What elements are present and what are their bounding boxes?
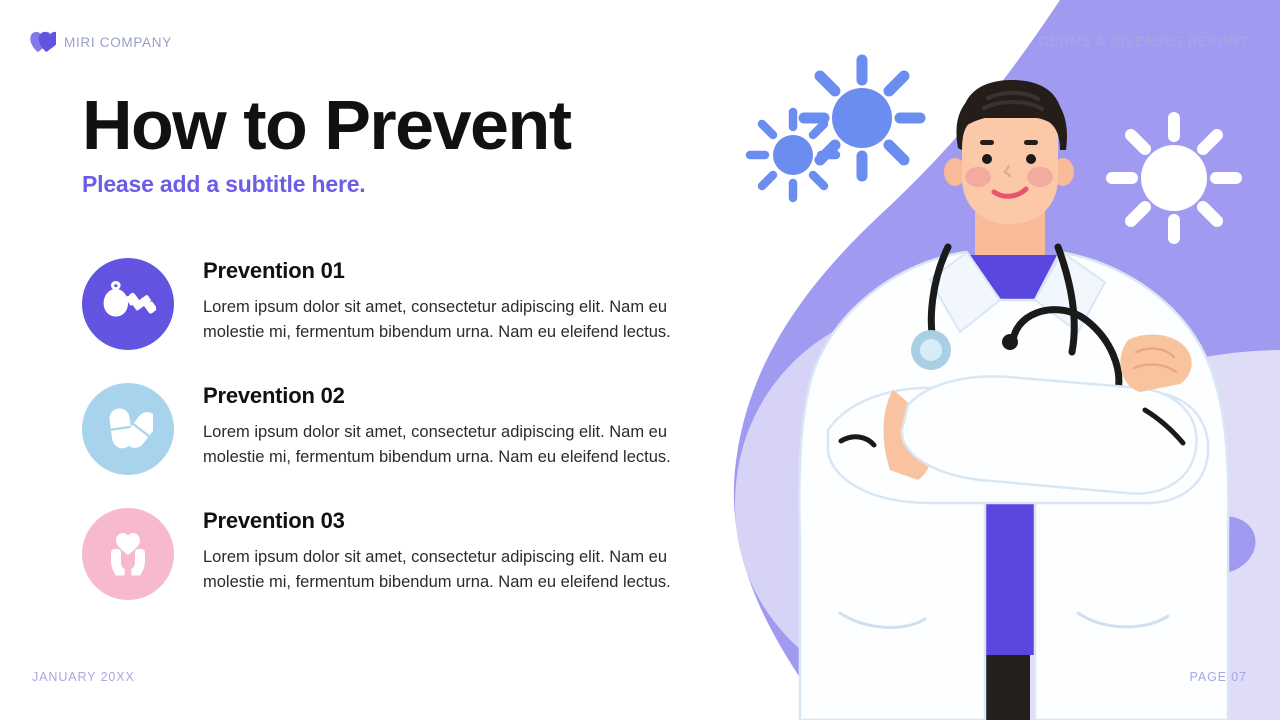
prevention-icon-circle-1 — [82, 258, 174, 350]
brand[interactable]: MIRI COMPANY — [30, 31, 172, 53]
prevention-text-2: Prevention 02 Lorem ipsum dolor sit amet… — [203, 377, 722, 470]
doctor-coat-collar-left — [930, 252, 1000, 332]
doctor-face — [962, 92, 1058, 224]
stethoscope-chest-piece — [911, 330, 951, 370]
brand-name: MIRI COMPANY — [64, 35, 172, 50]
germ-small-blue-icon — [750, 112, 836, 198]
doctor-forearm-skin — [884, 390, 932, 480]
germ-white-icon — [1112, 118, 1236, 238]
prevention-description: Lorem ipsum dolor sit amet, consectetur … — [203, 545, 719, 595]
prevention-text-1: Prevention 01 Lorem ipsum dolor sit amet… — [203, 252, 722, 345]
doctor-figure — [799, 80, 1228, 720]
doctor-hair — [956, 84, 1067, 150]
doctor-head — [944, 80, 1074, 224]
prevention-title: Prevention 02 — [203, 383, 722, 409]
prevention-list: Prevention 01 Lorem ipsum dolor sit amet… — [82, 252, 722, 627]
doctor-cheek-right — [1027, 167, 1053, 187]
doctor-sleeve-line-left — [841, 437, 874, 445]
footer-page-number: PAGE 07 — [1190, 670, 1247, 684]
background-lavender-panel — [999, 350, 1280, 720]
doctor-hand — [1120, 334, 1191, 392]
doctor-hair-stripes — [984, 93, 1042, 109]
stethoscope-chest-piece-inner — [920, 339, 942, 361]
doctor-nose — [1005, 166, 1010, 176]
doctor-arm-upper — [902, 376, 1197, 493]
doctor-coat-pocket-right — [1078, 613, 1168, 627]
hands-holding-heart-icon — [102, 530, 154, 578]
report-label: GERMS & DISEASES REPORT — [1039, 34, 1248, 49]
doctor-cheek-left — [965, 167, 991, 187]
germ-large-blue-icon — [804, 60, 920, 176]
doctor-coat-pocket-left — [840, 613, 925, 627]
background-small-blob — [1181, 508, 1263, 582]
stethoscope-tube-loop — [1013, 310, 1119, 390]
doctor-coat-collar-right — [1035, 252, 1105, 332]
two-hearts-icon — [30, 31, 56, 53]
doctor-pants — [930, 650, 1030, 720]
footer-date: JANUARY 20XX — [32, 670, 135, 684]
prevention-title: Prevention 03 — [203, 508, 722, 534]
prevention-description: Lorem ipsum dolor sit amet, consectetur … — [203, 295, 719, 345]
dumbbell-kettlebell-icon — [100, 281, 156, 327]
list-item[interactable]: Prevention 03 Lorem ipsum dolor sit amet… — [82, 502, 722, 600]
stethoscope-ear-tip-right — [1112, 385, 1128, 401]
pills-capsules-icon — [103, 406, 153, 452]
doctor-arm-lower — [828, 388, 1208, 503]
doctor-sleeve-line-right — [1145, 410, 1183, 443]
prevention-title: Prevention 01 — [203, 258, 722, 284]
doctor-scrubs — [960, 255, 1070, 655]
background-purple-blob — [734, 0, 1280, 720]
stethoscope-ear-tip-left — [1002, 334, 1018, 350]
prevention-text-3: Prevention 03 Lorem ipsum dolor sit amet… — [203, 502, 722, 595]
doctor-ear-right — [1052, 158, 1074, 186]
slide-canvas: MIRI COMPANY GERMS & DISEASES REPORT How… — [0, 0, 1280, 720]
background-lavender-halo — [735, 300, 1030, 700]
doctor-neck — [975, 210, 1045, 280]
doctor-eyebrow-left — [980, 140, 994, 145]
page-title: How to Prevent — [82, 86, 571, 164]
page-subtitle: Please add a subtitle here. — [82, 171, 366, 198]
stethoscope-tube-right — [1058, 247, 1074, 352]
doctor-coat-body — [799, 252, 1228, 720]
doctor-eye-right — [1026, 154, 1036, 164]
doctor-eye-left — [982, 154, 992, 164]
stethoscope-tube-left — [931, 247, 948, 345]
doctor-hair-top — [962, 80, 1062, 130]
list-item[interactable]: Prevention 01 Lorem ipsum dolor sit amet… — [82, 252, 722, 350]
doctor-mouth — [994, 189, 1026, 196]
prevention-description: Lorem ipsum dolor sit amet, consectetur … — [203, 420, 719, 470]
list-item[interactable]: Prevention 02 Lorem ipsum dolor sit amet… — [82, 377, 722, 475]
prevention-icon-circle-2 — [82, 383, 174, 475]
prevention-icon-circle-3 — [82, 508, 174, 600]
doctor-ear-left — [944, 158, 966, 186]
doctor-eyebrow-right — [1024, 140, 1038, 145]
